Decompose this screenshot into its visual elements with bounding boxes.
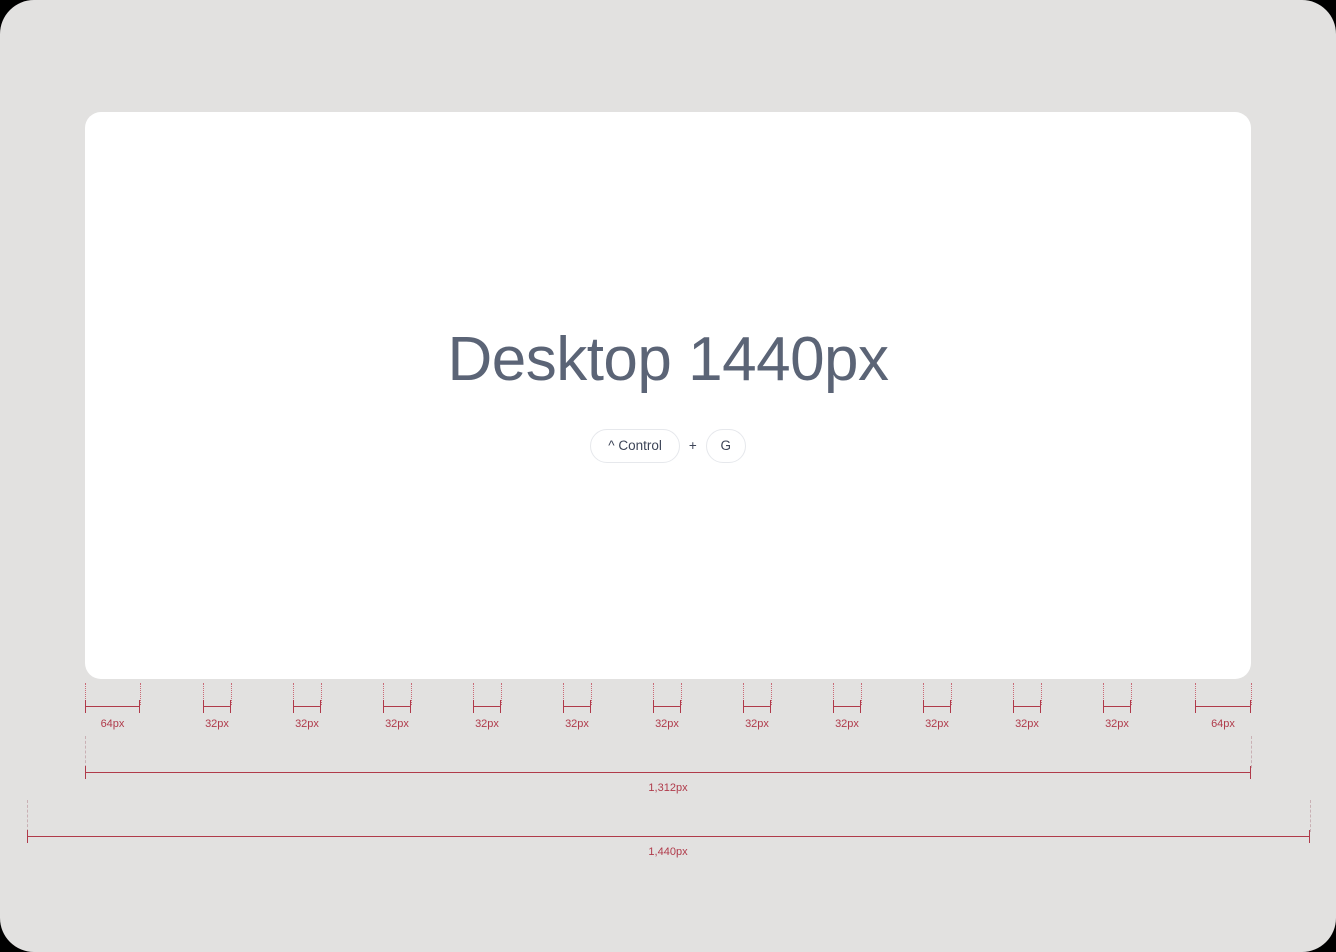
gutter-measure-label: 32px: [807, 718, 887, 730]
artboard-card: Desktop 1440px ^ Control + G: [85, 112, 1251, 679]
gutter-guide-line: [140, 683, 141, 705]
gutter-measure-label: 32px: [1077, 718, 1157, 730]
total-width-rule: [85, 766, 1251, 778]
gutter-guide-line: [231, 683, 232, 705]
span-tick-right: [1040, 700, 1041, 713]
gutter-span-bar: [1103, 700, 1131, 712]
gutter-measure-label: 32px: [717, 718, 797, 730]
span-rule: [1103, 706, 1131, 707]
total-rule-line: [27, 836, 1310, 837]
span-tick-right: [860, 700, 861, 713]
total-tick-right: [1309, 830, 1310, 843]
gutter-span-bar: [1195, 700, 1251, 712]
gutter-guide-line: [1251, 683, 1252, 705]
gutter-measure-label: 64px: [1183, 718, 1263, 730]
gutter-measure-label: 32px: [627, 718, 707, 730]
span-tick-right: [680, 700, 681, 713]
span-rule: [923, 706, 951, 707]
gutter-guide-line: [321, 683, 322, 705]
total-tick-right: [1250, 766, 1251, 779]
key-pill-control[interactable]: ^ Control: [590, 429, 680, 463]
span-tick-right: [590, 700, 591, 713]
gutter-guide-line: [1131, 683, 1132, 705]
key-pill-g[interactable]: G: [706, 429, 746, 463]
span-rule: [203, 706, 231, 707]
gutter-span-bar: [923, 700, 951, 712]
span-rule: [653, 706, 681, 707]
gutter-guide-line: [591, 683, 592, 705]
key-plus-separator: +: [689, 438, 697, 453]
keyboard-shortcut-hint: ^ Control + G: [590, 429, 746, 463]
total-width-label: 1,312px: [568, 782, 768, 794]
total-rule-line: [85, 772, 1251, 773]
gutter-guide-line: [771, 683, 772, 705]
span-rule: [563, 706, 591, 707]
span-rule: [1013, 706, 1041, 707]
span-tick-right: [1250, 700, 1251, 713]
gutter-span-bar: [1013, 700, 1041, 712]
span-tick-right: [139, 700, 140, 713]
gutter-guide-line: [951, 683, 952, 705]
total-guide-line: [85, 736, 86, 768]
span-tick-right: [230, 700, 231, 713]
gutter-guide-line: [1041, 683, 1042, 705]
artboard-title: Desktop 1440px: [447, 329, 888, 391]
design-spec-canvas: Desktop 1440px ^ Control + G 64px32px32p…: [0, 0, 1336, 952]
gutter-measure-label: 32px: [987, 718, 1067, 730]
total-guide-line: [27, 800, 28, 832]
gutter-measure-label: 32px: [267, 718, 347, 730]
gutter-guide-line: [681, 683, 682, 705]
gutter-measure-label: 64px: [73, 718, 153, 730]
span-rule: [833, 706, 861, 707]
gutter-measure-label: 32px: [447, 718, 527, 730]
gutter-span-bar: [85, 700, 140, 712]
gutter-span-bar: [293, 700, 321, 712]
total-guide-line: [1251, 736, 1252, 768]
gutter-measure-label: 32px: [897, 718, 977, 730]
span-rule: [1195, 706, 1251, 707]
gutter-guide-line: [501, 683, 502, 705]
span-tick-right: [320, 700, 321, 713]
gutter-measure-label: 32px: [177, 718, 257, 730]
gutter-measure-label: 32px: [537, 718, 617, 730]
total-width-rule: [27, 830, 1310, 842]
gutter-guide-line: [861, 683, 862, 705]
span-rule: [473, 706, 501, 707]
span-rule: [85, 706, 140, 707]
span-rule: [743, 706, 771, 707]
span-rule: [293, 706, 321, 707]
span-tick-right: [500, 700, 501, 713]
span-tick-right: [1130, 700, 1131, 713]
gutter-guide-line: [411, 683, 412, 705]
gutter-span-bar: [473, 700, 501, 712]
total-guide-line: [1310, 800, 1311, 832]
gutter-span-bar: [203, 700, 231, 712]
gutter-span-bar: [653, 700, 681, 712]
gutter-span-bar: [743, 700, 771, 712]
span-rule: [383, 706, 411, 707]
span-tick-right: [770, 700, 771, 713]
gutter-span-bar: [383, 700, 411, 712]
gutter-span-bar: [833, 700, 861, 712]
gutter-measure-label: 32px: [357, 718, 437, 730]
total-width-label: 1,440px: [568, 846, 768, 858]
span-tick-right: [950, 700, 951, 713]
span-tick-right: [410, 700, 411, 713]
gutter-span-bar: [563, 700, 591, 712]
